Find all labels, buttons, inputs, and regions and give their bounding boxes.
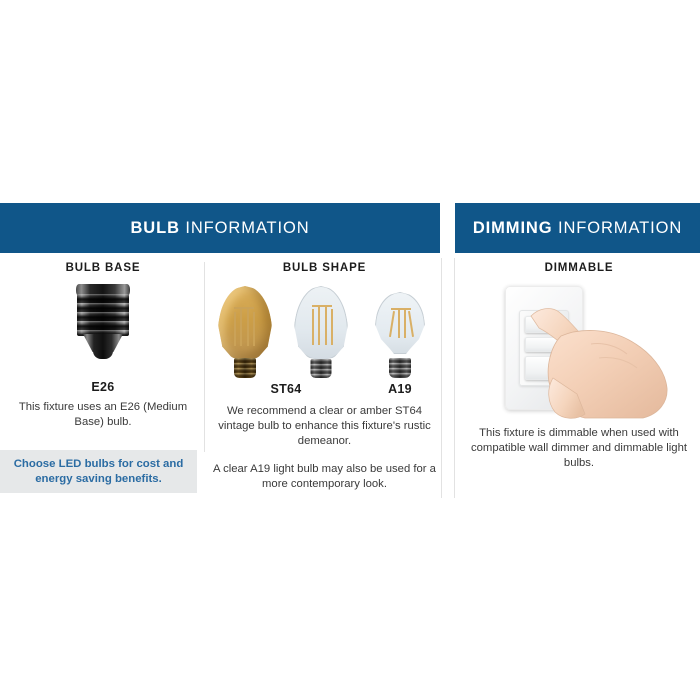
- dimming-header-bold-word: DIMMING: [473, 219, 553, 237]
- bulb-shape-labels: ST64 A19: [212, 382, 437, 398]
- a19-bulb-icon: [375, 292, 425, 378]
- column-bulb-shape: BULB SHAPE: [212, 262, 437, 492]
- bulb-base-description: This fixture uses an E26 (Medium Base) b…: [8, 400, 198, 430]
- filament-strand: [253, 312, 255, 346]
- bulb-shape-illustrations: [212, 280, 437, 380]
- st64-clear-bulb-icon: [294, 286, 348, 378]
- e26-part-label: E26: [8, 380, 198, 394]
- filament-strand: [318, 306, 320, 345]
- filament-bridge: [391, 308, 411, 310]
- a19-label: A19: [370, 382, 430, 396]
- dimmable-title: DIMMABLE: [460, 262, 698, 274]
- filament-strand: [240, 308, 242, 346]
- dimming-header-light-word: INFORMATION: [558, 219, 682, 237]
- st64-clear-cap: [311, 359, 332, 378]
- st64-amber-cap: [234, 358, 256, 378]
- column-dimmable: DIMMABLE: [460, 262, 698, 471]
- e26-tip-contact: [93, 350, 113, 359]
- a19-glass: [375, 292, 425, 354]
- bulb-shape-description-secondary: A clear A19 light bulb may also be used …: [212, 462, 437, 492]
- a19-cap: [389, 358, 411, 378]
- dimming-information-header-bar: DIMMING INFORMATION: [455, 203, 700, 253]
- filament-strand: [404, 309, 406, 338]
- st64-clear-glass: [294, 286, 348, 360]
- e26-screw-base-icon: [74, 284, 132, 360]
- filament-strand: [247, 308, 249, 346]
- e26-threads: [77, 294, 129, 336]
- wall-dimmer-illustration: [460, 280, 698, 420]
- divider-bulb-base-shape: [204, 262, 205, 452]
- st64-amber-bulb-icon: [218, 286, 272, 378]
- column-bulb-base: BULB BASE E26 This fixture uses an E26 (…: [8, 262, 198, 430]
- bulb-information-header-text: BULB INFORMATION: [130, 219, 309, 238]
- e26-base-illustration: [8, 280, 198, 380]
- divider-panel-left-edge: [441, 258, 442, 498]
- filament-bridge: [234, 307, 254, 309]
- filament-strand: [408, 311, 414, 337]
- st64-amber-glass: [218, 286, 272, 360]
- led-recommendation-callout: Choose LED bulbs for cost and energy sav…: [0, 450, 197, 493]
- dimmer-switch-graphic: [479, 280, 679, 420]
- bulb-shape-title: BULB SHAPE: [212, 262, 437, 274]
- spec-sheet-page: BULB INFORMATION DIMMING INFORMATION BUL…: [0, 0, 700, 700]
- led-recommendation-text: Choose LED bulbs for cost and energy sav…: [0, 457, 197, 487]
- hand-icon: [529, 302, 679, 420]
- filament-strand: [398, 309, 400, 338]
- bulb-shape-description-primary: We recommend a clear or amber ST64 vinta…: [212, 404, 437, 449]
- dimmable-description: This fixture is dimmable when used with …: [460, 426, 698, 471]
- bulb-information-header-bar: BULB INFORMATION: [0, 203, 440, 253]
- filament-strand: [234, 312, 236, 346]
- dimming-information-header-text: DIMMING INFORMATION: [473, 219, 682, 238]
- dimmable-text-block: This fixture is dimmable when used with …: [460, 426, 698, 471]
- bulb-base-title: BULB BASE: [8, 262, 198, 274]
- filament-strand: [331, 309, 333, 345]
- bulb-header-light-word: INFORMATION: [185, 219, 309, 237]
- filament-strand: [325, 306, 327, 345]
- bulb-header-bold-word: BULB: [130, 219, 179, 237]
- divider-panel-right-edge: [454, 258, 455, 498]
- filament-strand: [312, 309, 314, 345]
- filament-strand: [389, 311, 395, 337]
- filament-bridge: [312, 305, 332, 307]
- st64-label: ST64: [252, 382, 320, 396]
